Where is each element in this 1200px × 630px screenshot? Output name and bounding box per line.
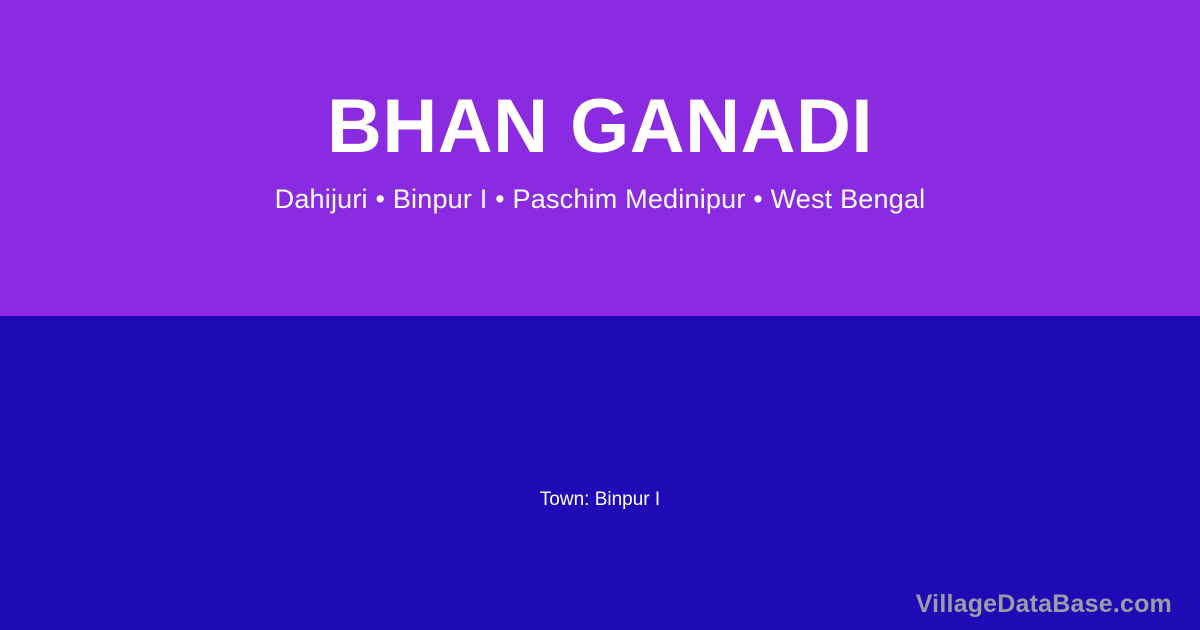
breadcrumb: Dahijuri • Binpur I • Paschim Medinipur … (0, 183, 1200, 216)
hero-banner: BHAN GANADI Dahijuri • Binpur I • Paschi… (0, 0, 1200, 316)
page-title: BHAN GANADI (0, 80, 1200, 174)
site-watermark: VillageDataBase.com (916, 589, 1172, 619)
town-detail-text: Town: Binpur I (0, 488, 1200, 512)
details-panel: Town: Binpur I VillageDataBase.com (0, 316, 1200, 630)
village-info-card: BHAN GANADI Dahijuri • Binpur I • Paschi… (0, 0, 1200, 630)
hero-content: BHAN GANADI Dahijuri • Binpur I • Paschi… (0, 0, 1200, 316)
